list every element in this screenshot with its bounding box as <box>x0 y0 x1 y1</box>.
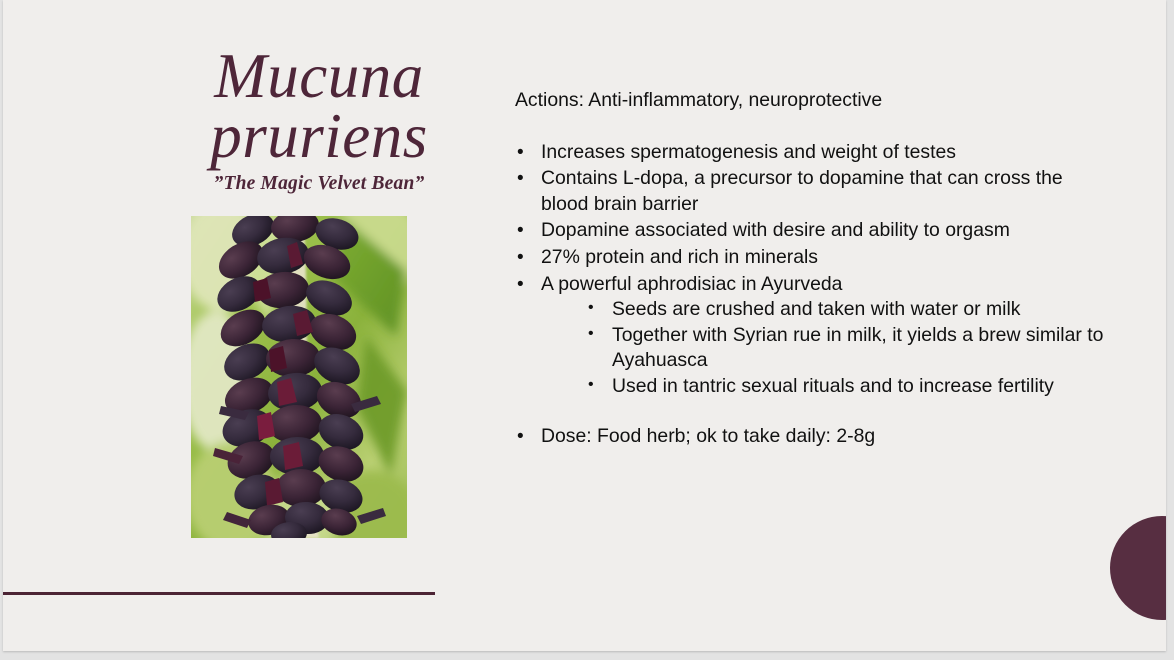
sub-bullet-dot-icon: • <box>588 374 594 395</box>
sub-bullet-list: • Seeds are crushed and taken with water… <box>541 297 1113 399</box>
bullet-text: Dopamine associated with desire and abil… <box>541 219 1010 241</box>
bullet-text: Increases spermatogenesis and weight of … <box>541 141 956 163</box>
dose-text: Dose: Food herb; ok to take daily: 2-8g <box>541 425 875 447</box>
bullet-text: A powerful aphrodisiac in Ayurveda <box>541 273 842 295</box>
list-item: • Used in tantric sexual rituals and to … <box>541 374 1113 400</box>
bullet-text: 27% protein and rich in minerals <box>541 246 818 268</box>
presentation-slide: Mucuna pruriens ”The Magic Velvet Bean” <box>3 0 1166 651</box>
content-spacer-2 <box>513 401 1113 424</box>
list-item: • A powerful aphrodisiac in Ayurveda • S… <box>513 272 1113 400</box>
mucuna-flower-illustration <box>191 216 407 538</box>
list-item: • Contains L-dopa, a precursor to dopami… <box>513 166 1113 217</box>
list-item: • Dose: Food herb; ok to take daily: 2-8… <box>513 424 1113 450</box>
bullet-dot-icon: • <box>517 218 524 243</box>
accent-circle-shape <box>1110 516 1166 620</box>
bullet-text: Contains L-dopa, a precursor to dopamine… <box>541 167 1063 215</box>
bullet-dot-icon: • <box>517 245 524 270</box>
title-block: Mucuna pruriens ”The Magic Velvet Bean” <box>149 46 489 195</box>
slide-canvas: Mucuna pruriens ”The Magic Velvet Bean” <box>0 0 1174 660</box>
list-item: • Dopamine associated with desire and ab… <box>513 218 1113 244</box>
actions-line: Actions: Anti-inflammatory, neuroprotect… <box>515 88 1113 114</box>
bullet-dot-icon: • <box>517 424 524 449</box>
title-line-2: pruriens <box>210 101 428 171</box>
list-item: • 27% protein and rich in minerals <box>513 245 1113 271</box>
bullet-dot-icon: • <box>517 166 524 191</box>
bullet-dot-icon: • <box>517 140 524 165</box>
dose-bullet-list: • Dose: Food herb; ok to take daily: 2-8… <box>513 424 1113 450</box>
sub-bullet-dot-icon: • <box>588 297 594 318</box>
list-item: • Together with Syrian rue in milk, it y… <box>541 323 1113 374</box>
bullet-dot-icon: • <box>517 272 524 297</box>
accent-horizontal-rule <box>3 592 435 595</box>
sub-bullet-text: Seeds are crushed and taken with water o… <box>612 298 1020 320</box>
sub-bullet-text: Together with Syrian rue in milk, it yie… <box>612 324 1103 372</box>
content-spacer-1 <box>513 114 1113 140</box>
list-item: • Seeds are crushed and taken with water… <box>541 297 1113 323</box>
content-body: Actions: Anti-inflammatory, neuroprotect… <box>513 88 1113 450</box>
plant-photo-image <box>191 216 407 538</box>
list-item: • Increases spermatogenesis and weight o… <box>513 140 1113 166</box>
page-title: Mucuna pruriens <box>149 46 489 167</box>
main-bullet-list: • Increases spermatogenesis and weight o… <box>513 140 1113 400</box>
sub-bullet-dot-icon: • <box>588 323 594 344</box>
sub-bullet-text: Used in tantric sexual rituals and to in… <box>612 375 1054 397</box>
slide-subtitle: ”The Magic Velvet Bean” <box>149 173 489 195</box>
